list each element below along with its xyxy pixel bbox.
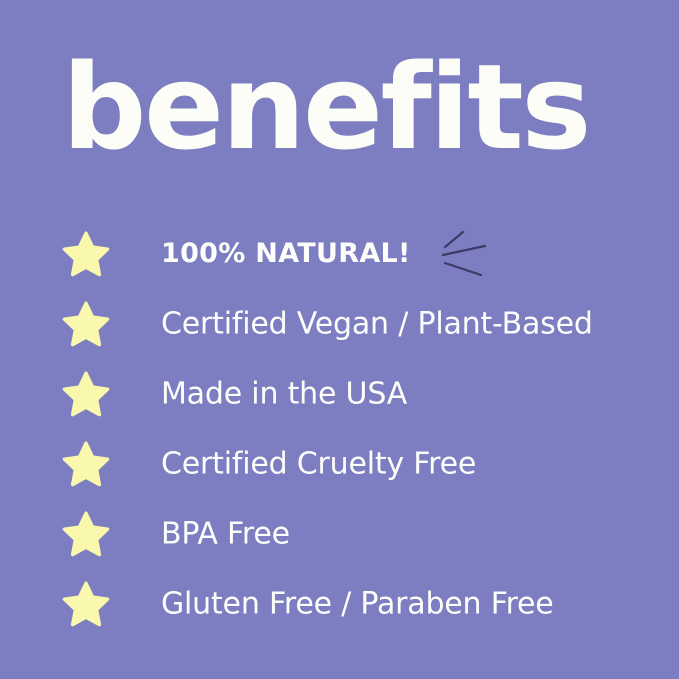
list-item: Gluten Free / Paraben Free xyxy=(0,569,679,639)
list-item-label: Made in the USA xyxy=(161,378,407,410)
list-item-label: Certified Vegan / Plant-Based xyxy=(161,308,593,340)
page-title: benefits xyxy=(62,48,589,166)
list-item-label: BPA Free xyxy=(161,518,290,550)
sparkle-emphasis-icon xyxy=(441,228,487,280)
star-icon xyxy=(62,370,110,418)
list-item-label: Gluten Free / Paraben Free xyxy=(161,588,554,620)
benefits-card: benefits 100% NATURAL! xyxy=(0,0,679,679)
star-icon xyxy=(62,230,110,278)
list-item-label: Certified Cruelty Free xyxy=(161,448,476,480)
star-icon xyxy=(62,580,110,628)
star-icon xyxy=(62,440,110,488)
list-item: Made in the USA xyxy=(0,359,679,429)
list-item: 100% NATURAL! xyxy=(0,219,679,289)
benefit-list: 100% NATURAL! Certified Vegan / Plant-Ba… xyxy=(0,219,679,639)
list-item: BPA Free xyxy=(0,499,679,569)
star-icon xyxy=(62,300,110,348)
list-item-label: 100% NATURAL! xyxy=(161,240,411,268)
star-icon xyxy=(62,510,110,558)
list-item: Certified Vegan / Plant-Based xyxy=(0,289,679,359)
list-item: Certified Cruelty Free xyxy=(0,429,679,499)
